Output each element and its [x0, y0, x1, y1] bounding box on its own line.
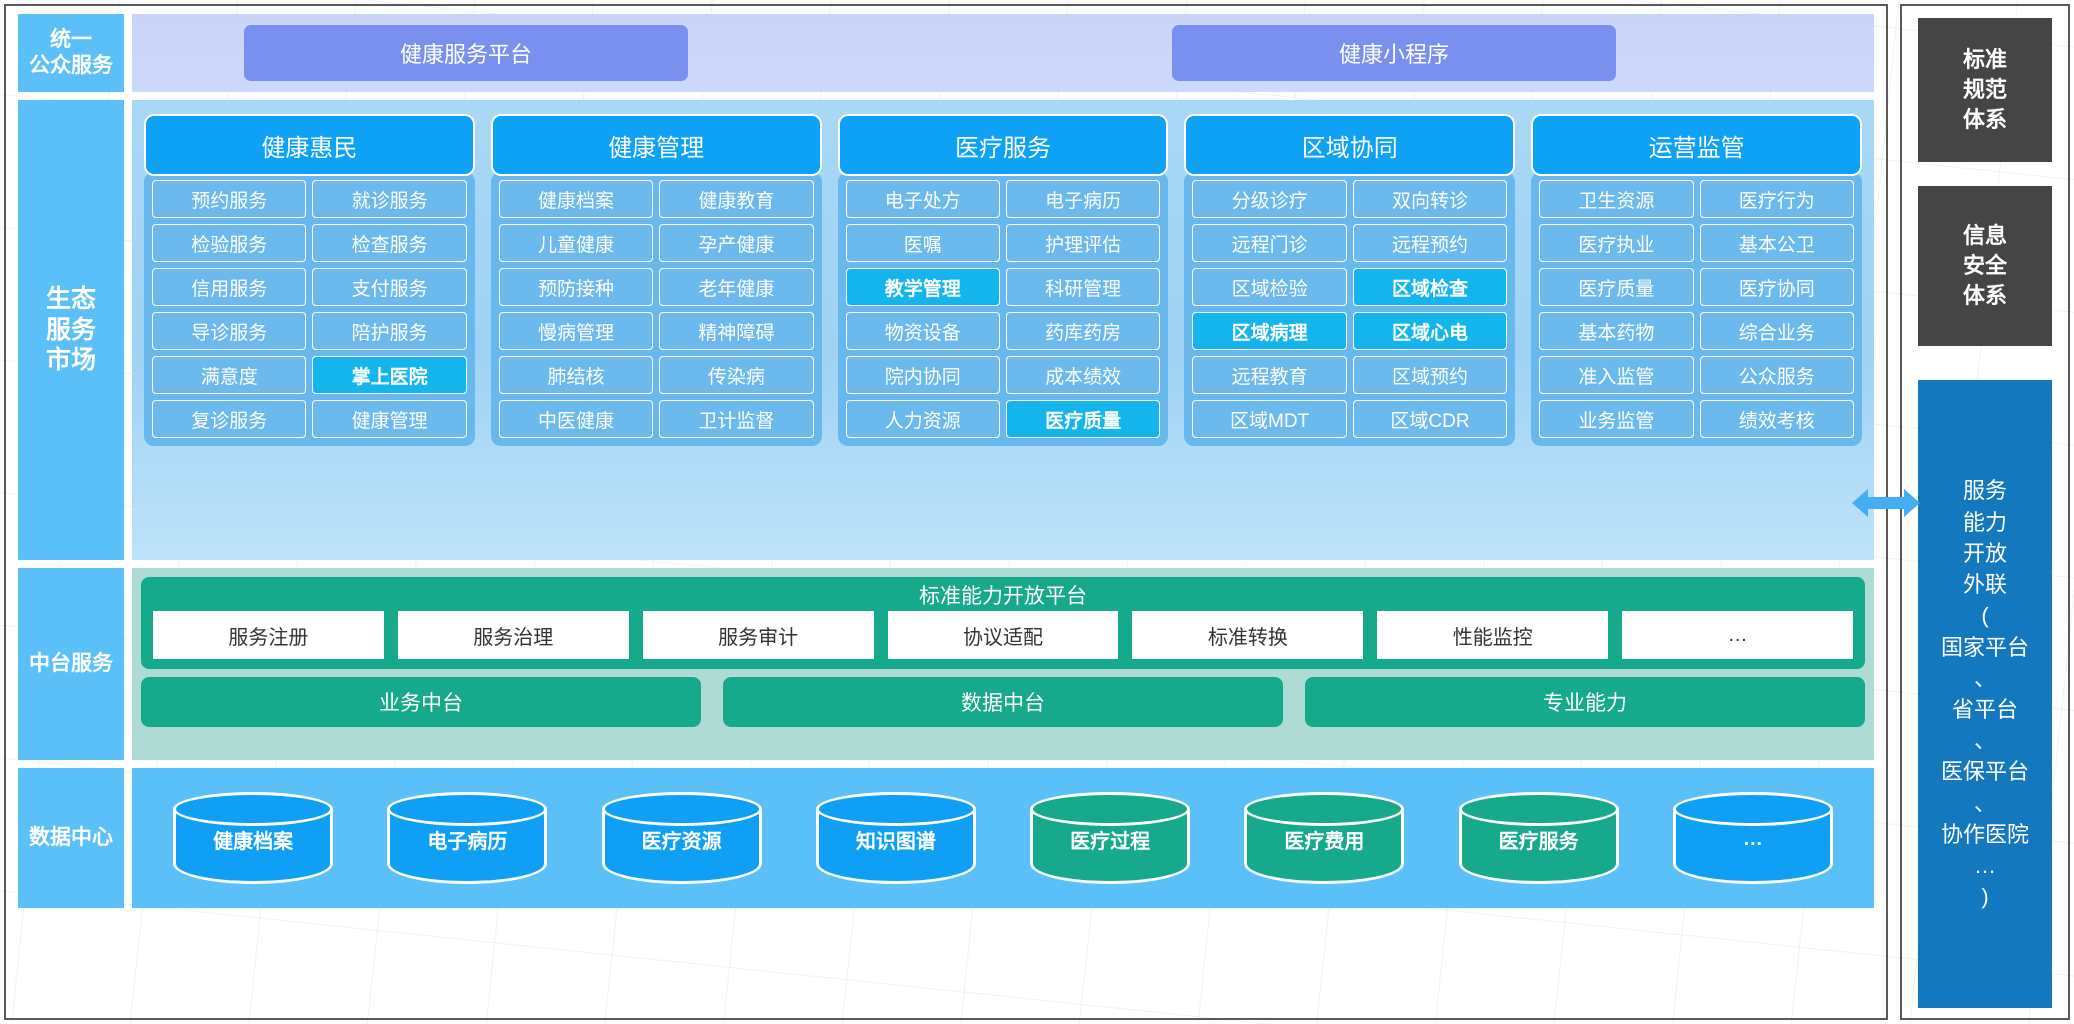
ecosystem-cell[interactable]: 教学管理: [846, 268, 1000, 306]
ecosystem-cell[interactable]: 健康教育: [659, 180, 813, 218]
data-store-label: 电子病历: [387, 825, 547, 854]
data-store-cylinder[interactable]: 医疗服务: [1459, 792, 1619, 884]
ecosystem-cell[interactable]: 基本药物: [1539, 312, 1693, 350]
data-store-label: 医疗服务: [1459, 825, 1619, 854]
data-store-cylinder[interactable]: 健康档案: [173, 792, 333, 884]
standard-capability-chip[interactable]: 服务治理: [398, 611, 629, 659]
ecosystem-cell[interactable]: 护理评估: [1006, 224, 1160, 262]
cylinder-top-ellipse: [1673, 792, 1833, 826]
ecosystem-cell[interactable]: 区域MDT: [1192, 400, 1346, 438]
ecosystem-column-title[interactable]: 医疗服务: [838, 114, 1169, 176]
ecosystem-cell[interactable]: 医疗质量: [1006, 400, 1160, 438]
ecosystem-cell[interactable]: 成本绩效: [1006, 356, 1160, 394]
ecosystem-cell[interactable]: 基本公卫: [1700, 224, 1854, 262]
ecosystem-cell[interactable]: 区域预约: [1353, 356, 1507, 394]
cylinder-top-ellipse: [387, 792, 547, 826]
ecosystem-cell[interactable]: 医疗质量: [1539, 268, 1693, 306]
data-store-label: …: [1673, 828, 1833, 851]
data-store-cylinder[interactable]: 医疗过程: [1030, 792, 1190, 884]
ecosystem-cell[interactable]: 掌上医院: [312, 356, 466, 394]
ecosystem-cell[interactable]: 陪护服务: [312, 312, 466, 350]
data-store-cylinder[interactable]: 医疗费用: [1244, 792, 1404, 884]
double-arrow-icon: [1852, 486, 1920, 520]
data-store-cylinder[interactable]: 电子病历: [387, 792, 547, 884]
ecosystem-cell[interactable]: 远程门诊: [1192, 224, 1346, 262]
cylinder-top-ellipse: [1244, 792, 1404, 826]
ecosystem-cell[interactable]: 导诊服务: [152, 312, 306, 350]
public-service-body: 健康服务平台 健康小程序: [132, 14, 1874, 92]
ecosystem-cell[interactable]: 业务监管: [1539, 400, 1693, 438]
standard-capability-chip-list: 服务注册服务治理服务审计协议适配标准转换性能监控…: [153, 611, 1853, 659]
ecosystem-cell[interactable]: 区域CDR: [1353, 400, 1507, 438]
ecosystem-cell[interactable]: 支付服务: [312, 268, 466, 306]
ecosystem-cell[interactable]: 区域检查: [1353, 268, 1507, 306]
ecosystem-cell[interactable]: 绩效考核: [1700, 400, 1854, 438]
ecosystem-cell[interactable]: 检验服务: [152, 224, 306, 262]
ecosystem-cell[interactable]: 区域检验: [1192, 268, 1346, 306]
ecosystem-cell[interactable]: 就诊服务: [312, 180, 466, 218]
platform-health-miniapp[interactable]: 健康小程序: [1172, 25, 1616, 81]
ecosystem-cell[interactable]: 医疗协同: [1700, 268, 1854, 306]
standard-capability-platform-title: 标准能力开放平台: [153, 583, 1853, 611]
ecosystem-column: 健康惠民预约服务就诊服务检验服务检查服务信用服务支付服务导诊服务陪护服务满意度掌…: [144, 114, 475, 446]
data-store-label: 医疗过程: [1030, 825, 1190, 854]
ecosystem-cell[interactable]: 人力资源: [846, 400, 1000, 438]
ecosystem-cell[interactable]: 电子处方: [846, 180, 1000, 218]
ecosystem-cell[interactable]: 健康档案: [499, 180, 653, 218]
data-store-label: 知识图谱: [816, 825, 976, 854]
middle-platform-body: 标准能力开放平台 服务注册服务治理服务审计协议适配标准转换性能监控… 业务中台数…: [132, 568, 1874, 760]
middle-platform-label: 中台服务: [18, 568, 124, 760]
ecosystem-cell[interactable]: 肺结核: [499, 356, 653, 394]
data-store-cylinder[interactable]: 知识图谱: [816, 792, 976, 884]
ecosystem-cell[interactable]: 复诊服务: [152, 400, 306, 438]
ecosystem-cell-grid: 分级诊疗双向转诊远程门诊远程预约区域检验区域检查区域病理区域心电远程教育区域预约…: [1184, 172, 1515, 446]
ecosystem-column: 健康管理健康档案健康教育儿童健康孕产健康预防接种老年健康慢病管理精神障碍肺结核传…: [491, 114, 822, 446]
ecosystem-cell-grid: 预约服务就诊服务检验服务检查服务信用服务支付服务导诊服务陪护服务满意度掌上医院复…: [144, 172, 475, 446]
standard-capability-chip[interactable]: 协议适配: [888, 611, 1119, 659]
side-standard-system: 标准 规范 体系: [1918, 18, 2052, 162]
ecosystem-cell[interactable]: 健康管理: [312, 400, 466, 438]
cylinder-top-ellipse: [1459, 792, 1619, 826]
ecosystem-cell[interactable]: 慢病管理: [499, 312, 653, 350]
standard-capability-chip[interactable]: 服务审计: [643, 611, 874, 659]
ecosystem-cell-grid: 卫生资源医疗行为医疗执业基本公卫医疗质量医疗协同基本药物综合业务准入监管公众服务…: [1531, 172, 1862, 446]
ecosystem-cell[interactable]: 孕产健康: [659, 224, 813, 262]
public-service-label: 统一 公众服务: [18, 14, 124, 92]
ecosystem-column: 区域协同分级诊疗双向转诊远程门诊远程预约区域检验区域检查区域病理区域心电远程教育…: [1184, 114, 1515, 446]
ecosystem-cell[interactable]: 老年健康: [659, 268, 813, 306]
public-service-row: 统一 公众服务 健康服务平台 健康小程序: [18, 14, 1874, 92]
ecosystem-cell[interactable]: 信用服务: [152, 268, 306, 306]
data-store-cylinder[interactable]: 医疗资源: [602, 792, 762, 884]
ecosystem-cell[interactable]: 区域心电: [1353, 312, 1507, 350]
ecosystem-cell[interactable]: 中医健康: [499, 400, 653, 438]
ecosystem-cell[interactable]: 检查服务: [312, 224, 466, 262]
ecosystem-row: 生态 服务 市场 健康惠民预约服务就诊服务检验服务检查服务信用服务支付服务导诊服…: [18, 100, 1874, 560]
cylinder-top-ellipse: [173, 792, 333, 826]
data-store-label: 健康档案: [173, 825, 333, 854]
ecosystem-cell[interactable]: 科研管理: [1006, 268, 1160, 306]
ecosystem-cell[interactable]: 药库药房: [1006, 312, 1160, 350]
data-center-label: 数据中心: [18, 768, 124, 908]
standard-capability-chip[interactable]: 性能监控: [1377, 611, 1608, 659]
architecture-diagram: 统一 公众服务 健康服务平台 健康小程序 生态 服务 市场 健康惠民预约服务就诊…: [0, 0, 2074, 1024]
ecosystem-cell[interactable]: 满意度: [152, 356, 306, 394]
data-store-label: 医疗费用: [1244, 825, 1404, 854]
middle-platform-bar-list: 业务中台数据中台专业能力: [141, 677, 1865, 727]
data-store-cylinder[interactable]: …: [1673, 792, 1833, 884]
ecosystem-cell[interactable]: 远程预约: [1353, 224, 1507, 262]
ecosystem-cell-grid: 健康档案健康教育儿童健康孕产健康预防接种老年健康慢病管理精神障碍肺结核传染病中医…: [491, 172, 822, 446]
ecosystem-cell[interactable]: 医嘱: [846, 224, 1000, 262]
data-store-label: 医疗资源: [602, 825, 762, 854]
standard-capability-platform: 标准能力开放平台 服务注册服务治理服务审计协议适配标准转换性能监控…: [141, 577, 1865, 669]
ecosystem-cell[interactable]: 准入监管: [1539, 356, 1693, 394]
ecosystem-cell[interactable]: 分级诊疗: [1192, 180, 1346, 218]
middle-platform-bar[interactable]: 专业能力: [1305, 677, 1865, 727]
ecosystem-cell[interactable]: 物资设备: [846, 312, 1000, 350]
middle-platform-bar[interactable]: 数据中台: [723, 677, 1283, 727]
ecosystem-column-title[interactable]: 区域协同: [1184, 114, 1515, 176]
ecosystem-column-title[interactable]: 健康惠民: [144, 114, 475, 176]
ecosystem-cell[interactable]: 综合业务: [1700, 312, 1854, 350]
ecosystem-cell[interactable]: 院内协同: [846, 356, 1000, 394]
platform-health-service[interactable]: 健康服务平台: [244, 25, 688, 81]
ecosystem-cell[interactable]: 医疗执业: [1539, 224, 1693, 262]
middle-platform-row: 中台服务 标准能力开放平台 服务注册服务治理服务审计协议适配标准转换性能监控… …: [18, 568, 1874, 760]
cylinder-top-ellipse: [816, 792, 976, 826]
ecosystem-column: 运营监管卫生资源医疗行为医疗执业基本公卫医疗质量医疗协同基本药物综合业务准入监管…: [1531, 114, 1862, 446]
side-service-openness: 服务 能力 开放 外联 ( 国家平台 、 省平台 、 医保平台 、 协作医院 ……: [1918, 380, 2052, 1008]
ecosystem-cell[interactable]: 卫计监督: [659, 400, 813, 438]
ecosystem-cell[interactable]: 双向转诊: [1353, 180, 1507, 218]
cylinder-top-ellipse: [1030, 792, 1190, 826]
standard-capability-chip[interactable]: 服务注册: [153, 611, 384, 659]
data-center-body: 健康档案电子病历医疗资源知识图谱医疗过程医疗费用医疗服务…: [132, 768, 1874, 908]
ecosystem-cell[interactable]: 精神障碍: [659, 312, 813, 350]
ecosystem-cell-grid: 电子处方电子病历医嘱护理评估教学管理科研管理物资设备药库药房院内协同成本绩效人力…: [838, 172, 1169, 446]
ecosystem-column-title[interactable]: 健康管理: [491, 114, 822, 176]
ecosystem-cell[interactable]: 传染病: [659, 356, 813, 394]
middle-platform-bar[interactable]: 业务中台: [141, 677, 701, 727]
standard-capability-chip[interactable]: …: [1622, 611, 1853, 659]
ecosystem-cell[interactable]: 预约服务: [152, 180, 306, 218]
ecosystem-cell[interactable]: 电子病历: [1006, 180, 1160, 218]
ecosystem-column-title[interactable]: 运营监管: [1531, 114, 1862, 176]
side-security-system: 信息 安全 体系: [1918, 186, 2052, 346]
ecosystem-cell[interactable]: 预防接种: [499, 268, 653, 306]
ecosystem-label: 生态 服务 市场: [18, 100, 124, 560]
ecosystem-cell[interactable]: 卫生资源: [1539, 180, 1693, 218]
standard-capability-chip[interactable]: 标准转换: [1132, 611, 1363, 659]
ecosystem-cell[interactable]: 医疗行为: [1700, 180, 1854, 218]
ecosystem-cell[interactable]: 儿童健康: [499, 224, 653, 262]
data-center-row: 数据中心 健康档案电子病历医疗资源知识图谱医疗过程医疗费用医疗服务…: [18, 768, 1874, 908]
ecosystem-cell[interactable]: 公众服务: [1700, 356, 1854, 394]
ecosystem-cell[interactable]: 远程教育: [1192, 356, 1346, 394]
ecosystem-cell[interactable]: 区域病理: [1192, 312, 1346, 350]
ecosystem-body: 健康惠民预约服务就诊服务检验服务检查服务信用服务支付服务导诊服务陪护服务满意度掌…: [132, 100, 1874, 560]
cylinder-top-ellipse: [602, 792, 762, 826]
ecosystem-column: 医疗服务电子处方电子病历医嘱护理评估教学管理科研管理物资设备药库药房院内协同成本…: [838, 114, 1169, 446]
